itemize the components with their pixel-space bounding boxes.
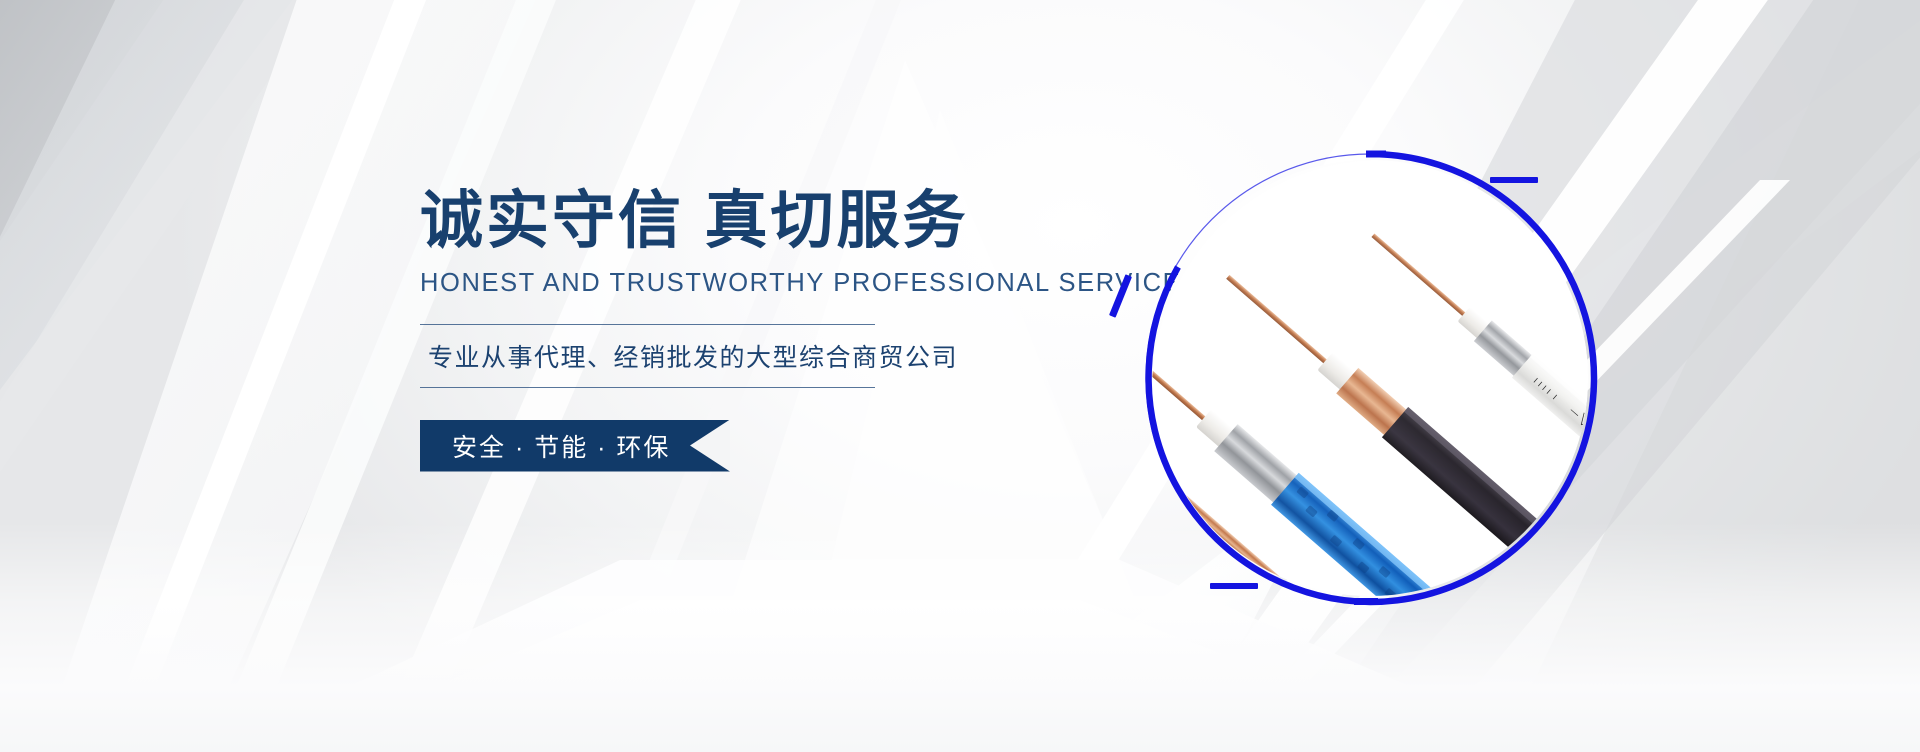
- page-title: 诚实守信 真切服务: [420, 186, 1060, 257]
- hero-banner: 诚实守信 真切服务 HONEST AND TRUSTWORTHY PROFESS…: [0, 0, 1920, 752]
- hero-text-block: 诚实守信 真切服务 HONEST AND TRUSTWORTHY PROFESS…: [420, 186, 1060, 472]
- subtitle-chinese: 专业从事代理、经销批发的大型综合商贸公司: [420, 325, 875, 387]
- subtitle-english: HONEST AND TRUSTWORTHY PROFESSIONAL SERV…: [420, 269, 1060, 298]
- ribbon-label: 安全 · 节能 · 环保: [420, 428, 670, 464]
- medallion-ring: [1140, 148, 1600, 608]
- feature-ribbon: 安全 · 节能 · 环保: [420, 420, 730, 472]
- divider-top: [420, 324, 875, 325]
- product-medallion: ╷╷╷╷ ╷ — ╲╱: [1140, 148, 1600, 608]
- tagline-group: 专业从事代理、经销批发的大型综合商贸公司: [420, 324, 875, 388]
- divider-bottom: [420, 387, 875, 388]
